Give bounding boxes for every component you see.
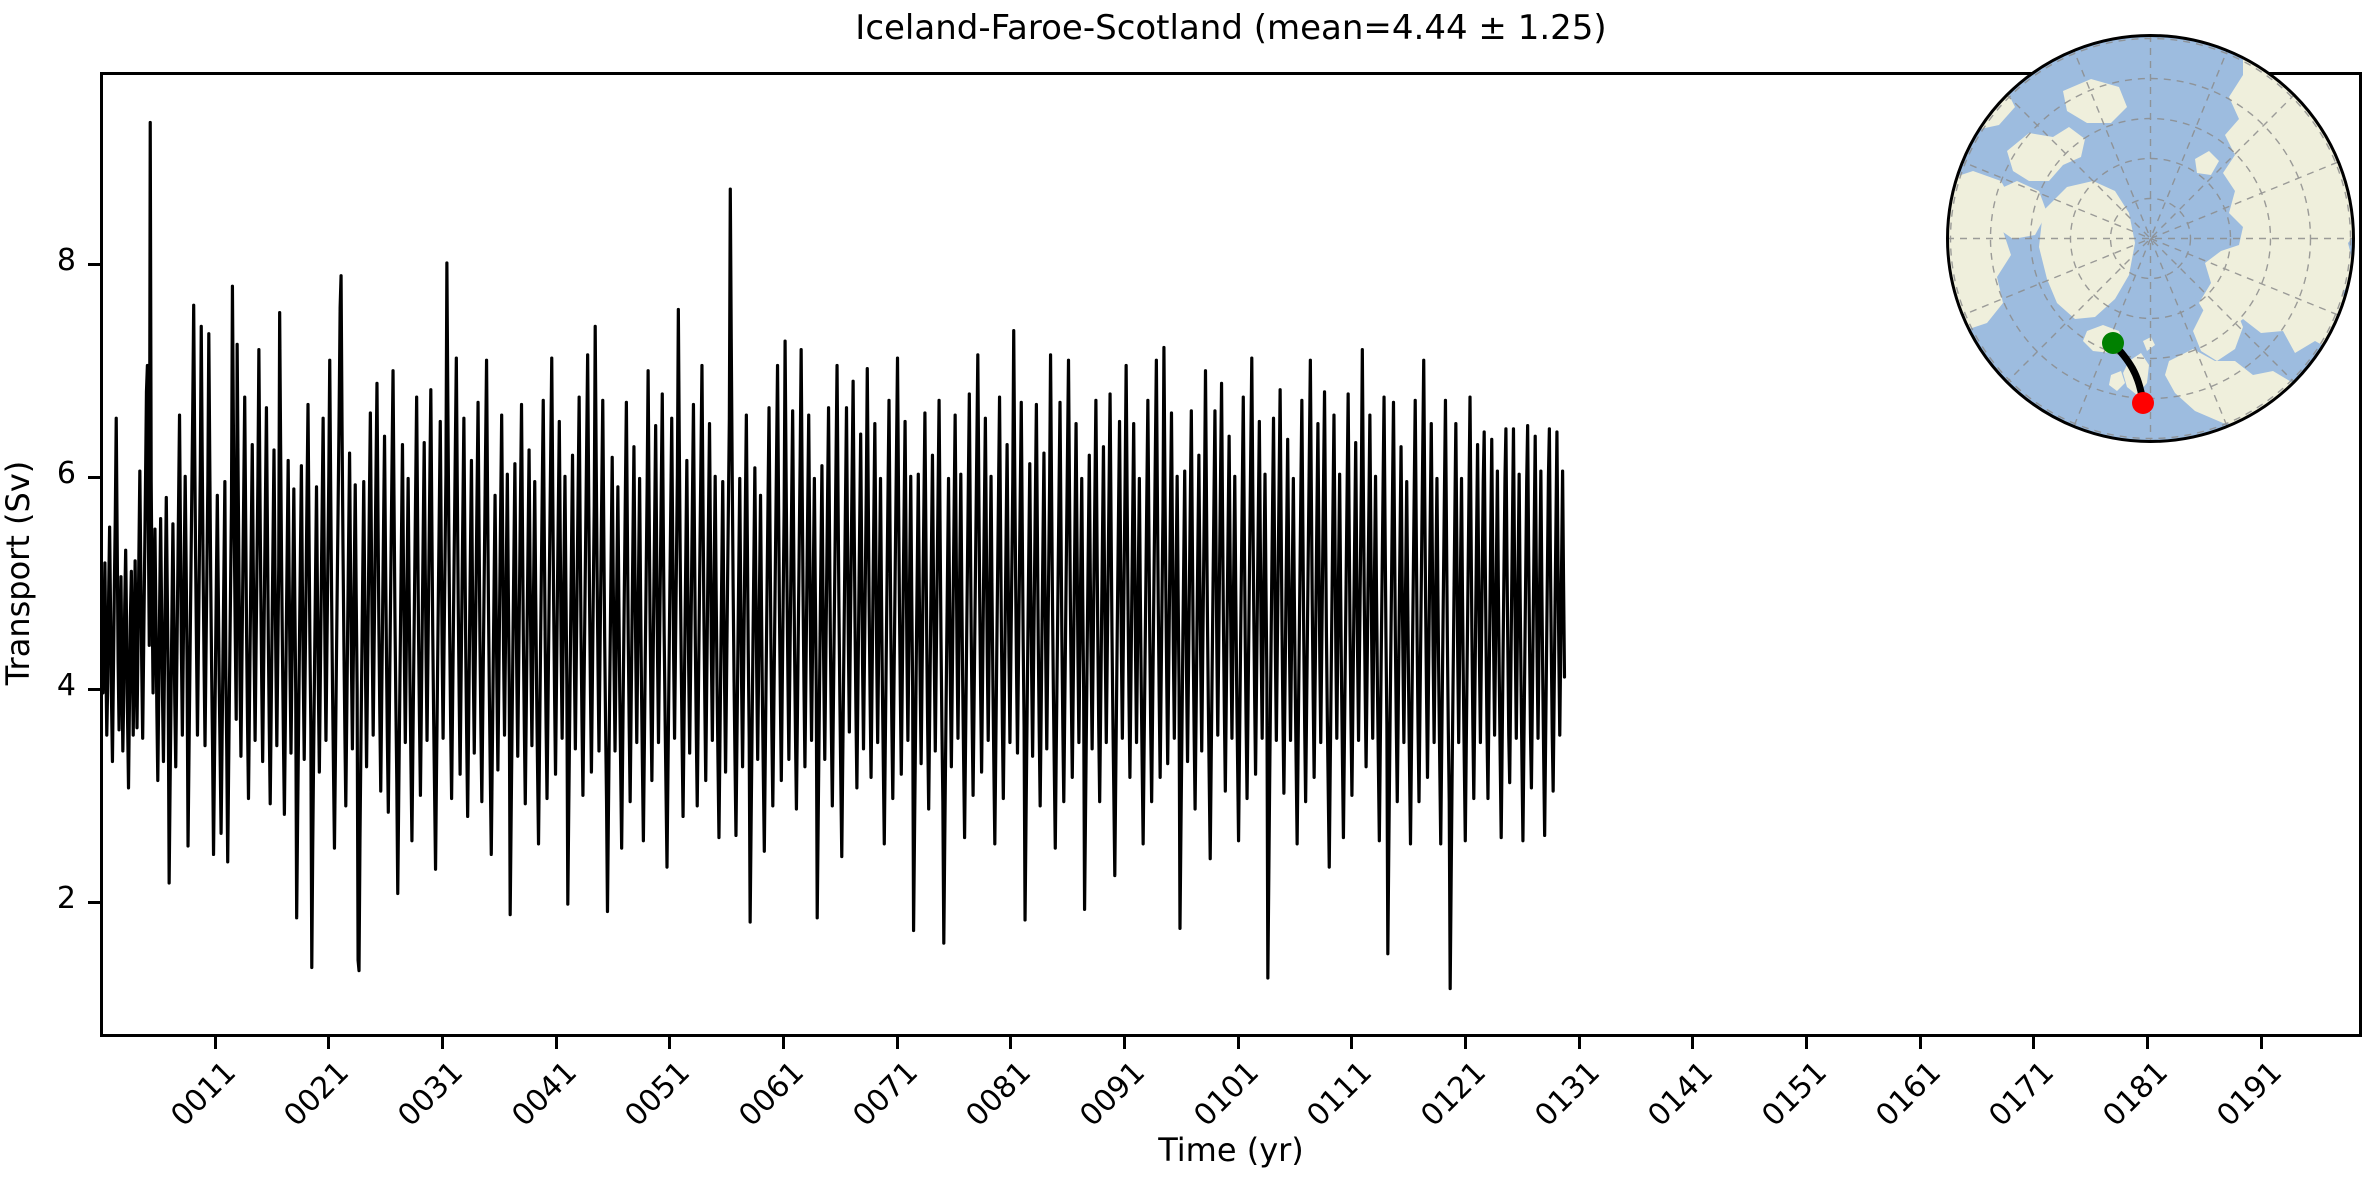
- x-tick-label: 0151: [1755, 1055, 1833, 1133]
- x-tick-mark: [214, 1037, 217, 1049]
- x-tick-label: 0171: [1983, 1055, 2061, 1133]
- figure-canvas: Iceland-Faroe-Scotland (mean=4.44 ± 1.25…: [0, 0, 2379, 1180]
- x-tick-label: 0021: [278, 1055, 356, 1133]
- x-tick-label: 0191: [2210, 1055, 2288, 1133]
- x-tick-label: 0101: [1187, 1055, 1265, 1133]
- x-tick-mark: [2032, 1037, 2035, 1049]
- x-tick-label: 0141: [1642, 1055, 1720, 1133]
- x-tick-label: 0011: [164, 1055, 242, 1133]
- x-tick-mark: [782, 1037, 785, 1049]
- y-tick-mark: [88, 688, 100, 691]
- x-tick-label: 0111: [1301, 1055, 1379, 1133]
- x-tick-mark: [1237, 1037, 1240, 1049]
- x-tick-mark: [1464, 1037, 1467, 1049]
- north-polar-stereographic-inset: [1943, 31, 2358, 446]
- x-axis-label: Time (yr): [100, 1131, 2362, 1169]
- x-tick-mark: [896, 1037, 899, 1049]
- x-tick-mark: [327, 1037, 330, 1049]
- x-tick-mark: [2146, 1037, 2149, 1049]
- x-tick-label: 0071: [846, 1055, 924, 1133]
- x-tick-label: 0051: [619, 1055, 697, 1133]
- x-tick-mark: [1919, 1037, 1922, 1049]
- x-tick-mark: [668, 1037, 671, 1049]
- x-tick-label: 0121: [1414, 1055, 1492, 1133]
- x-tick-mark: [1123, 1037, 1126, 1049]
- y-tick-label: 6: [0, 456, 76, 491]
- x-tick-mark: [555, 1037, 558, 1049]
- x-tick-mark: [1805, 1037, 1808, 1049]
- x-tick-mark: [2260, 1037, 2263, 1049]
- y-tick-mark: [88, 901, 100, 904]
- x-tick-label: 0031: [391, 1055, 469, 1133]
- x-tick-label: 0091: [1073, 1055, 1151, 1133]
- x-tick-label: 0041: [505, 1055, 583, 1133]
- y-tick-label: 8: [0, 243, 76, 278]
- transect-start-marker-iceland: [2102, 332, 2124, 354]
- x-tick-mark: [1691, 1037, 1694, 1049]
- x-tick-label: 0061: [732, 1055, 810, 1133]
- y-tick-label: 4: [0, 668, 76, 703]
- y-axis-label: Transport (Sv): [0, 363, 37, 783]
- x-tick-label: 0161: [1869, 1055, 1947, 1133]
- x-tick-mark: [1350, 1037, 1353, 1049]
- inset-map-svg: [1943, 31, 2358, 446]
- y-tick-label: 2: [0, 881, 76, 916]
- y-tick-mark: [88, 476, 100, 479]
- x-tick-mark: [1578, 1037, 1581, 1049]
- x-tick-label: 0081: [960, 1055, 1038, 1133]
- transect-end-marker-scotland: [2132, 392, 2154, 414]
- series-path-transport: [103, 123, 1564, 989]
- x-tick-label: 0181: [2096, 1055, 2174, 1133]
- x-tick-mark: [1009, 1037, 1012, 1049]
- y-tick-mark: [88, 263, 100, 266]
- x-tick-mark: [441, 1037, 444, 1049]
- x-tick-label: 0131: [1528, 1055, 1606, 1133]
